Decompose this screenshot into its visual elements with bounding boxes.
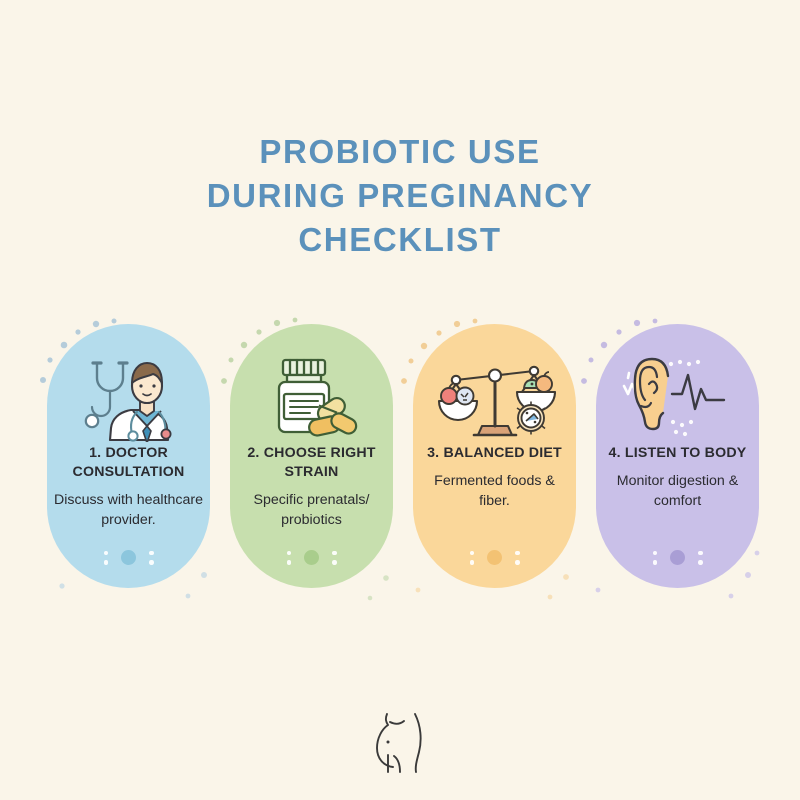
dot [104, 551, 109, 556]
dot [515, 560, 520, 565]
title-line-3: CHECKLIST [0, 218, 800, 262]
card-heading: 3. BALANCED DIET [419, 444, 570, 463]
checklist-cards: 1. DOCTOR CONSULTATION Discuss with heal… [47, 324, 759, 588]
dot [515, 551, 520, 556]
dot [470, 560, 475, 565]
card-bottom-dots [596, 550, 759, 565]
card-heading: 2. CHOOSE RIGHT STRAIN [236, 444, 387, 482]
dot [287, 560, 292, 565]
dot-column-right [698, 551, 703, 565]
dot [653, 560, 658, 565]
dot-accent [670, 550, 685, 565]
card-text-block: 3. BALANCED DIET Fermented foods & fiber… [419, 444, 570, 511]
supplement-bottle-icon [230, 346, 393, 446]
dot-column-right [149, 551, 154, 565]
card-heading: 4. LISTEN TO BODY [602, 444, 753, 463]
card-bottom-dots [413, 550, 576, 565]
dot-accent [121, 550, 136, 565]
dot-column-left [287, 551, 292, 565]
dot [332, 551, 337, 556]
dot [698, 560, 703, 565]
footer-motif [0, 700, 800, 780]
dot [698, 551, 703, 556]
card-body: Fermented foods & fiber. [419, 472, 570, 511]
card-bottom-dots [47, 550, 210, 565]
card-text-block: 2. CHOOSE RIGHT STRAIN Specific prenatal… [236, 444, 387, 530]
checklist-card-1[interactable]: 1. DOCTOR CONSULTATION Discuss with heal… [47, 324, 210, 588]
listening-ear-icon [596, 346, 759, 446]
dot-column-left [104, 551, 109, 565]
title-line-2: DURING PREGINANCY [0, 174, 800, 218]
card-body: Specific prenatals/ probiotics [236, 491, 387, 530]
card-heading: 1. DOCTOR CONSULTATION [53, 444, 204, 482]
dot [149, 551, 154, 556]
card-body: Monitor digestion & comfort [602, 472, 753, 511]
dot-column-right [332, 551, 337, 565]
card-text-block: 1. DOCTOR CONSULTATION Discuss with heal… [53, 444, 204, 530]
dot-column-left [653, 551, 658, 565]
balance-scale-icon [413, 346, 576, 446]
dot [653, 551, 658, 556]
infographic-poster: PROBIOTIC USE DURING PREGINANCY CHECKLIS… [0, 0, 800, 800]
checklist-card-4[interactable]: 4. LISTEN TO BODY Monitor digestion & co… [596, 324, 759, 588]
dot [470, 551, 475, 556]
card-body: Discuss with healthcare provider. [53, 491, 204, 530]
page-title: PROBIOTIC USE DURING PREGINANCY CHECKLIS… [0, 130, 800, 262]
doctor-consultation-icon [47, 346, 210, 446]
dot-column-left [470, 551, 475, 565]
dot [104, 560, 109, 565]
dot [287, 551, 292, 556]
checklist-card-2[interactable]: 2. CHOOSE RIGHT STRAIN Specific prenatal… [230, 324, 393, 588]
dot-accent [304, 550, 319, 565]
checklist-card-3[interactable]: 3. BALANCED DIET Fermented foods & fiber… [413, 324, 576, 588]
card-bottom-dots [230, 550, 393, 565]
dot-column-right [515, 551, 520, 565]
card-text-block: 4. LISTEN TO BODY Monitor digestion & co… [602, 444, 753, 511]
pregnant-belly-icon [360, 700, 440, 780]
dot-accent [487, 550, 502, 565]
dot [332, 560, 337, 565]
title-line-1: PROBIOTIC USE [0, 130, 800, 174]
dot [149, 560, 154, 565]
